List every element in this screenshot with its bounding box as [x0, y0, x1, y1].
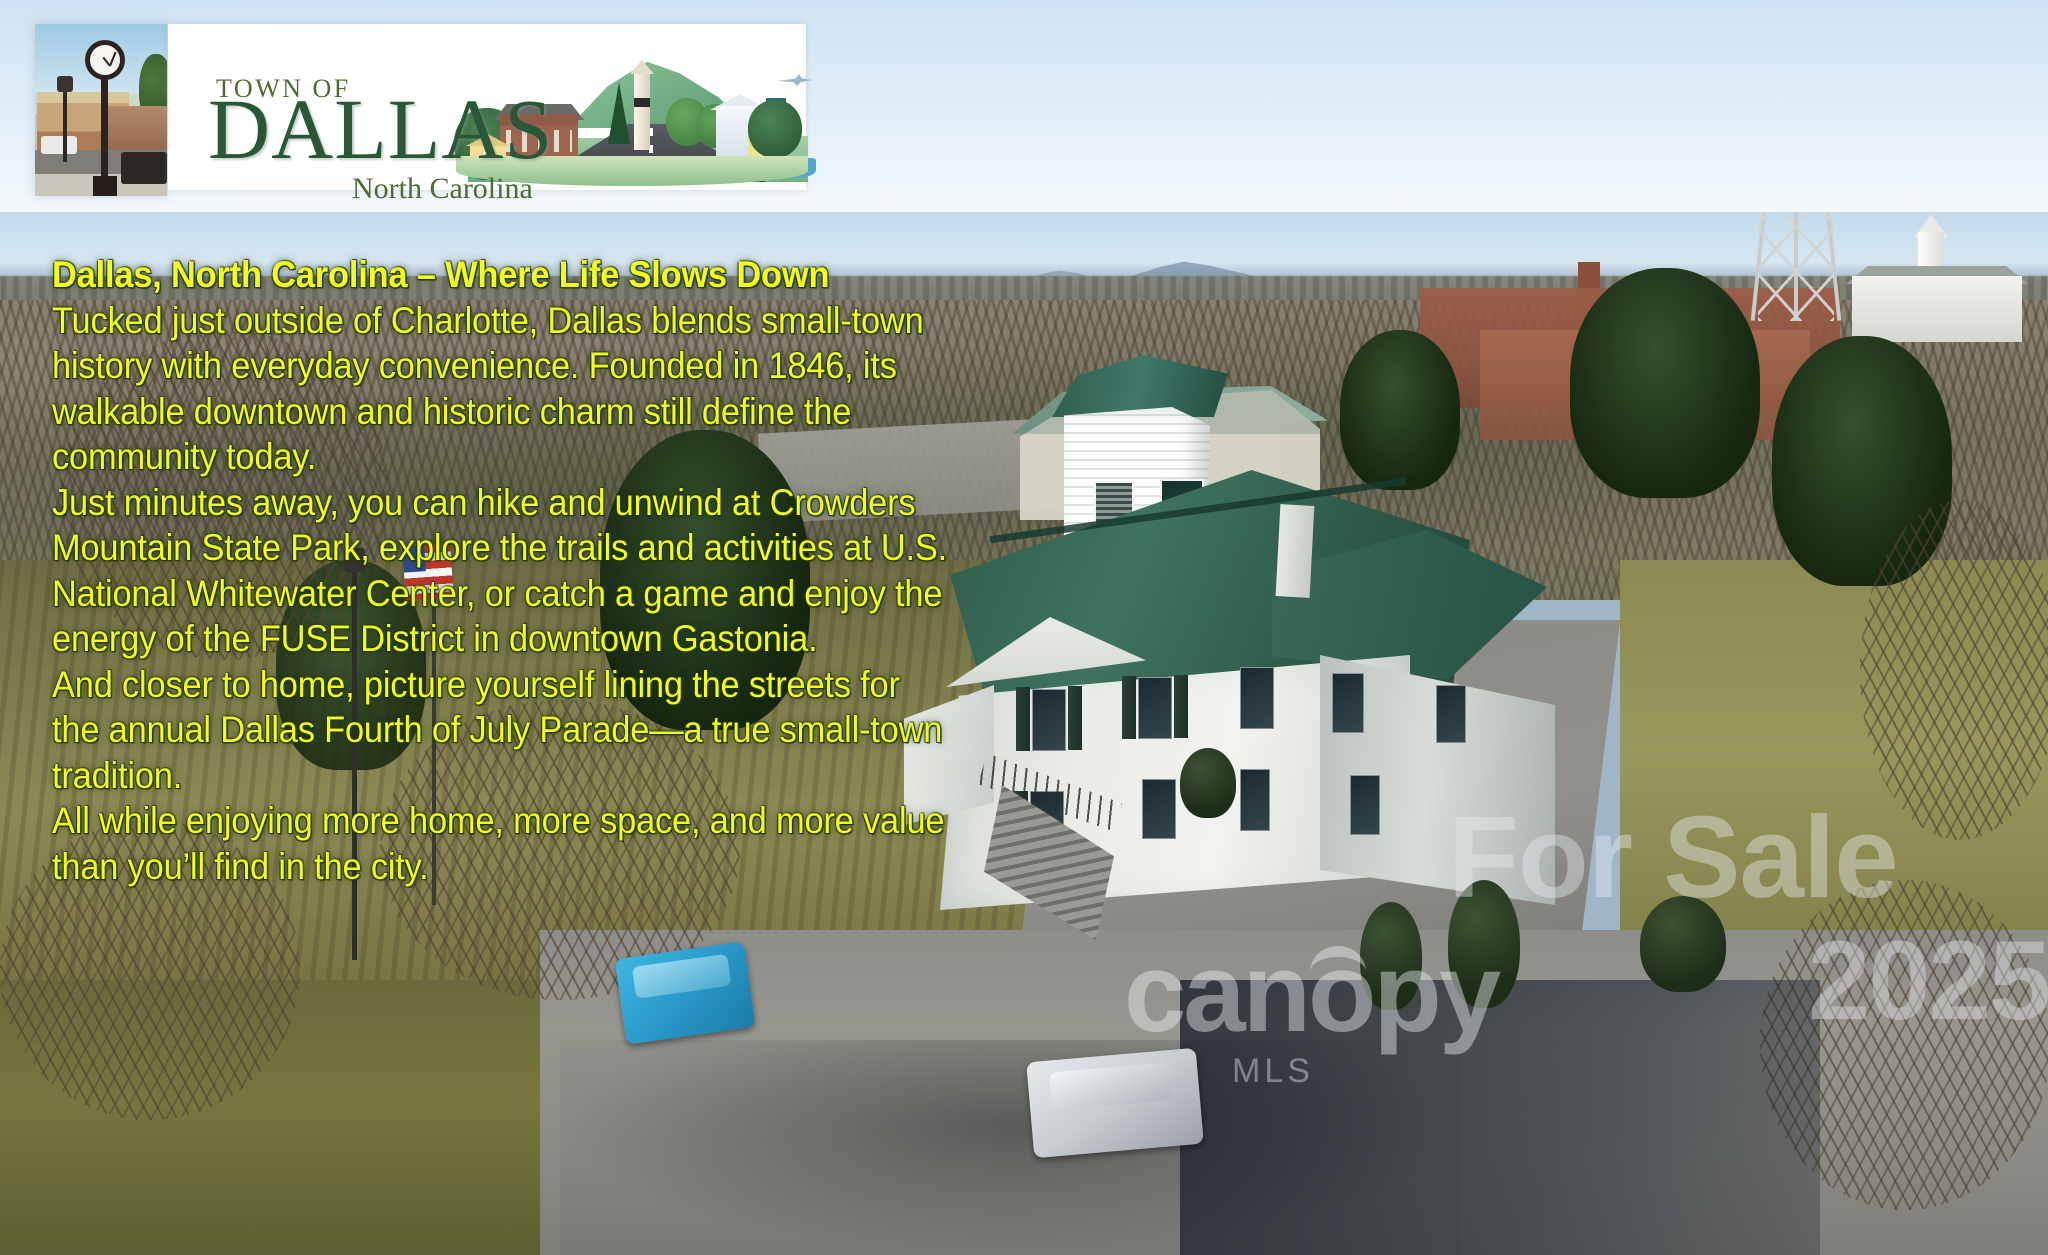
- window: [1240, 667, 1274, 729]
- shutter: [1174, 675, 1188, 738]
- chimney: [1276, 504, 1315, 598]
- promo-line: All while enjoying more home, more space…: [52, 798, 1001, 844]
- clock-photo-van: [41, 136, 77, 154]
- promo-line: than you’ll find in the city.: [52, 844, 1001, 890]
- promo-line: the annual Dallas Fourth of July Parade—…: [52, 707, 1001, 753]
- screenshot-canvas: TOWN OF DALLAS North Carolina Dallas, No…: [0, 0, 2048, 1255]
- window: [1436, 685, 1466, 743]
- clock-photo-bench: [121, 152, 167, 184]
- promo-line: Mountain State Park, explore the trails …: [52, 525, 1001, 571]
- bare-tree: [1860, 500, 2048, 840]
- clock-photo-lamp-head: [57, 76, 73, 92]
- cupola-roof: [1052, 355, 1228, 417]
- illustration-tree: [748, 100, 802, 158]
- logo-town-name: DALLAS: [208, 86, 553, 172]
- shutter: [1122, 676, 1136, 739]
- promo-line: And closer to home, picture yourself lin…: [52, 662, 1001, 708]
- for-sale-watermark: For Sale: [1448, 790, 1898, 924]
- shutter: [1016, 687, 1030, 751]
- logo-state-label: North Carolina: [352, 172, 533, 206]
- promo-line: Tucked just outside of Charlotte, Dallas…: [52, 298, 1001, 344]
- canopy-watermark: canopy: [1124, 928, 1498, 1057]
- window: [1138, 677, 1172, 739]
- blue-car: [615, 941, 756, 1044]
- clock-minute-hand: [109, 52, 116, 67]
- promo-line: tradition.: [52, 753, 1001, 799]
- window: [1350, 775, 1380, 835]
- door: [1240, 769, 1270, 831]
- promo-line: Just minutes away, you can hike and unwi…: [52, 480, 1001, 526]
- clock-face-icon: [85, 40, 125, 80]
- shutter: [1068, 686, 1082, 750]
- street-clock-photo: [35, 24, 167, 196]
- illustration-courthouse-tower: [634, 70, 650, 150]
- promo-heading: Dallas, North Carolina – Where Life Slow…: [52, 252, 1001, 298]
- promo-line: walkable downtown and historic charm sti…: [52, 389, 1001, 435]
- water-tower-bracing: [1758, 205, 1834, 321]
- silver-suv: [1026, 1048, 1204, 1158]
- evergreen-tree: [1570, 268, 1760, 498]
- canopy-watermark-label: canopy: [1124, 930, 1498, 1055]
- promo-line: National Whitewater Center, or catch a g…: [52, 571, 1001, 617]
- window: [1332, 673, 1364, 733]
- town-logo-card: TOWN OF DALLAS North Carolina: [168, 24, 806, 190]
- airplane-icon: [778, 74, 812, 86]
- mls-watermark: MLS: [1232, 1052, 1314, 1091]
- clock-post-base: [93, 176, 117, 196]
- shrub: [1180, 748, 1236, 818]
- promo-line: energy of the FUSE District in downtown …: [52, 616, 1001, 662]
- year-watermark: 2025: [1808, 916, 2048, 1045]
- header-banner: TOWN OF DALLAS North Carolina: [0, 0, 2048, 212]
- clock-photo-storefront-2: [105, 106, 167, 154]
- clock-photo-lamppost: [63, 86, 67, 162]
- promo-line: community today.: [52, 434, 1001, 480]
- promo-line: history with everyday convenience. Found…: [52, 343, 1001, 389]
- promo-copy-block: Dallas, North Carolina – Where Life Slow…: [52, 252, 1001, 889]
- window: [1142, 779, 1176, 839]
- window: [1032, 689, 1066, 751]
- illustration-tower-clock: [634, 98, 650, 107]
